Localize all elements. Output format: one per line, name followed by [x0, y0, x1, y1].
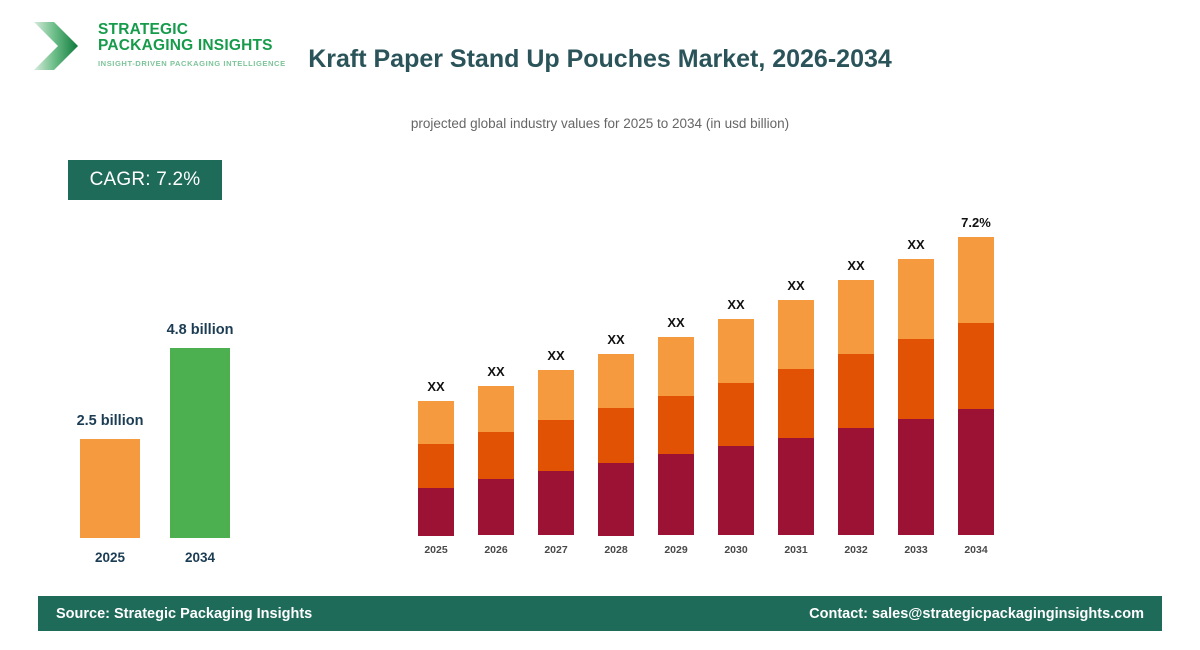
stacked-bar-group: XX2026	[478, 386, 514, 535]
stacked-bar-segment	[898, 339, 934, 419]
stacked-bar-segment	[718, 383, 754, 446]
stacked-bar-group: XX2029	[658, 337, 694, 535]
stacked-bar-segment	[418, 488, 454, 536]
chevron-logo-mark	[32, 20, 80, 72]
footer-bar: Source: Strategic Packaging Insights Con…	[38, 596, 1162, 631]
stacked-bar-group: XX2025	[418, 401, 454, 535]
stacked-bar-category-label: 2028	[590, 544, 642, 556]
stacked-bar-segment	[658, 454, 694, 535]
stacked-bar-segment	[538, 471, 574, 535]
mini-bar-group: 4.8 billion2034	[170, 348, 230, 538]
stacked-bar-segment	[658, 396, 694, 454]
stacked-bar-value-label: XX	[451, 364, 541, 379]
stacked-bar-segment	[598, 354, 634, 408]
stacked-bar-category-label: 2034	[950, 544, 1002, 556]
stacked-bar-group: XX2028	[598, 354, 634, 535]
stacked-bar-segment	[478, 432, 514, 479]
stacked-bar-value-label: 7.2%	[931, 215, 1021, 230]
mini-bar	[170, 348, 230, 538]
footer-source: Source: Strategic Packaging Insights	[56, 606, 312, 622]
mini-bar-value-label: 4.8 billion	[120, 322, 280, 338]
stacked-bar-segment	[898, 259, 934, 339]
stacked-bar-category-label: 2033	[890, 544, 942, 556]
stacked-bar-value-label: XX	[511, 348, 601, 363]
stacked-bar-group: XX2032	[838, 280, 874, 535]
stacked-bar-segment	[778, 369, 814, 438]
footer-contact: Contact: sales@strategicpackaginginsight…	[809, 606, 1144, 622]
stacked-bar-segment	[838, 354, 874, 428]
stacked-bar-segment	[538, 370, 574, 420]
stacked-bar-segment	[478, 386, 514, 432]
chart-subtitle: projected global industry values for 202…	[280, 116, 920, 131]
stacked-bar-segment	[418, 401, 454, 444]
stacked-bar-value-label: XX	[811, 258, 901, 273]
stacked-bar-category-label: 2032	[830, 544, 882, 556]
stacked-bar-segment	[478, 479, 514, 535]
mini-bar-category-label: 2025	[80, 550, 140, 565]
stacked-bar-segment	[658, 337, 694, 396]
stacked-bar-category-label: 2030	[710, 544, 762, 556]
stacked-bar-group: 7.2%2034	[958, 237, 994, 535]
stacked-bar-segment	[778, 300, 814, 369]
logo-line-2: PACKAGING INSIGHTS	[98, 38, 286, 54]
yearly-stacked-forecast-chart: XX2025XX2026XX2027XX2028XX2029XX2030XX20…	[410, 200, 1010, 560]
mini-bar-value-label: 2.5 billion	[30, 413, 190, 429]
stacked-bar-value-label: XX	[691, 297, 781, 312]
stacked-bar-group: XX2027	[538, 370, 574, 535]
stacked-bar-segment	[838, 428, 874, 535]
stacked-bar-segment	[538, 420, 574, 471]
stacked-bar-value-label: XX	[571, 332, 661, 347]
stacked-bar-group: XX2033	[898, 259, 934, 535]
logo-tagline: INSIGHT-DRIVEN PACKAGING INTELLIGENCE	[98, 60, 286, 68]
mini-bar-group: 2.5 billion2025	[80, 439, 140, 538]
stacked-bar-category-label: 2029	[650, 544, 702, 556]
stacked-bar-segment	[718, 319, 754, 383]
stacked-bar-value-label: XX	[631, 315, 721, 330]
stacked-bar-value-label: XX	[391, 379, 481, 394]
stacked-bar-segment	[718, 446, 754, 535]
stacked-bar-value-label: XX	[871, 237, 961, 252]
chart-title: Kraft Paper Stand Up Pouches Market, 202…	[300, 42, 900, 77]
endpoint-comparison-chart: 2.5 billion20254.8 billion2034	[40, 300, 280, 570]
stacked-bar-category-label: 2027	[530, 544, 582, 556]
stacked-bar-group: XX2031	[778, 300, 814, 535]
mini-bar	[80, 439, 140, 538]
cagr-badge-label: CAGR: 7.2%	[90, 169, 201, 191]
stacked-bar-segment	[898, 419, 934, 535]
logo-line-1: STRATEGIC	[98, 22, 286, 38]
logo-wordmark: STRATEGIC PACKAGING INSIGHTS INSIGHT-DRI…	[98, 22, 286, 68]
stacked-bar-category-label: 2025	[410, 544, 462, 556]
stacked-bar-group: XX2030	[718, 319, 754, 535]
brand-logo: STRATEGIC PACKAGING INSIGHTS INSIGHT-DRI…	[32, 14, 292, 78]
stacked-bar-segment	[418, 444, 454, 488]
cagr-badge: CAGR: 7.2%	[68, 160, 222, 200]
stacked-bar-category-label: 2026	[470, 544, 522, 556]
stacked-bar-segment	[958, 409, 994, 535]
stacked-bar-segment	[838, 280, 874, 354]
stacked-bar-category-label: 2031	[770, 544, 822, 556]
stacked-bar-segment	[958, 237, 994, 323]
stacked-bar-segment	[598, 463, 634, 536]
mini-bar-category-label: 2034	[170, 550, 230, 565]
stacked-bar-segment	[958, 323, 994, 409]
stacked-bar-segment	[778, 438, 814, 535]
stacked-bar-value-label: XX	[751, 278, 841, 293]
stacked-bar-segment	[598, 408, 634, 463]
